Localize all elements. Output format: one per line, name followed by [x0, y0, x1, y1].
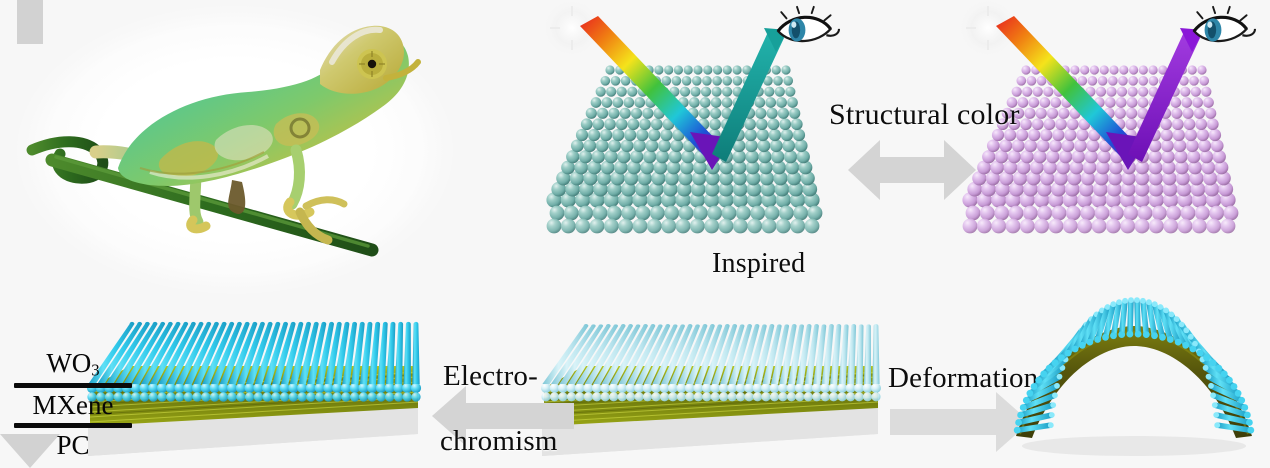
bent-device-svg	[1000, 310, 1268, 468]
chameleon-panel	[0, 0, 470, 300]
flat-device-center-svg	[530, 300, 890, 468]
inspired-label: Inspired	[712, 248, 805, 280]
teal-sphere-lattice: {}	[546, 65, 822, 233]
bent-device-panel	[1000, 310, 1268, 468]
ground-shadow	[1022, 436, 1246, 456]
label-divider-2	[14, 423, 132, 428]
layer-label-mxene: MXene	[14, 390, 132, 422]
pink-sphere-lattice	[962, 65, 1238, 233]
wo3-text: WO	[46, 348, 91, 378]
wo3-subscript: 3	[91, 361, 99, 380]
layer-label-stack: WO3 MXene PC	[14, 348, 132, 462]
flat-device-center-panel	[530, 300, 890, 468]
structural-color-label: Structural color	[829, 98, 1020, 132]
chromism-label: chromism	[440, 425, 558, 458]
layer-label-pc: PC	[14, 430, 132, 462]
wo3-nanorod-array	[88, 322, 419, 384]
figure-canvas: {}	[0, 0, 1270, 468]
teal-photonic-panel: {}	[536, 4, 846, 236]
label-divider-1	[14, 383, 132, 388]
structural-color-double-arrow	[848, 140, 976, 200]
wo3-nanorod-array	[542, 324, 879, 384]
bent-wo3-nanorod-array	[1017, 297, 1251, 433]
eye-pupil	[368, 60, 376, 68]
observer-eye-icon	[778, 7, 839, 42]
observer-eye-icon	[1194, 7, 1255, 42]
layer-label-wo3: WO3	[14, 348, 132, 382]
electro-label: Electro-	[443, 360, 538, 393]
chameleon-illustration	[0, 0, 470, 300]
teal-crystal-svg: {}	[536, 4, 846, 236]
